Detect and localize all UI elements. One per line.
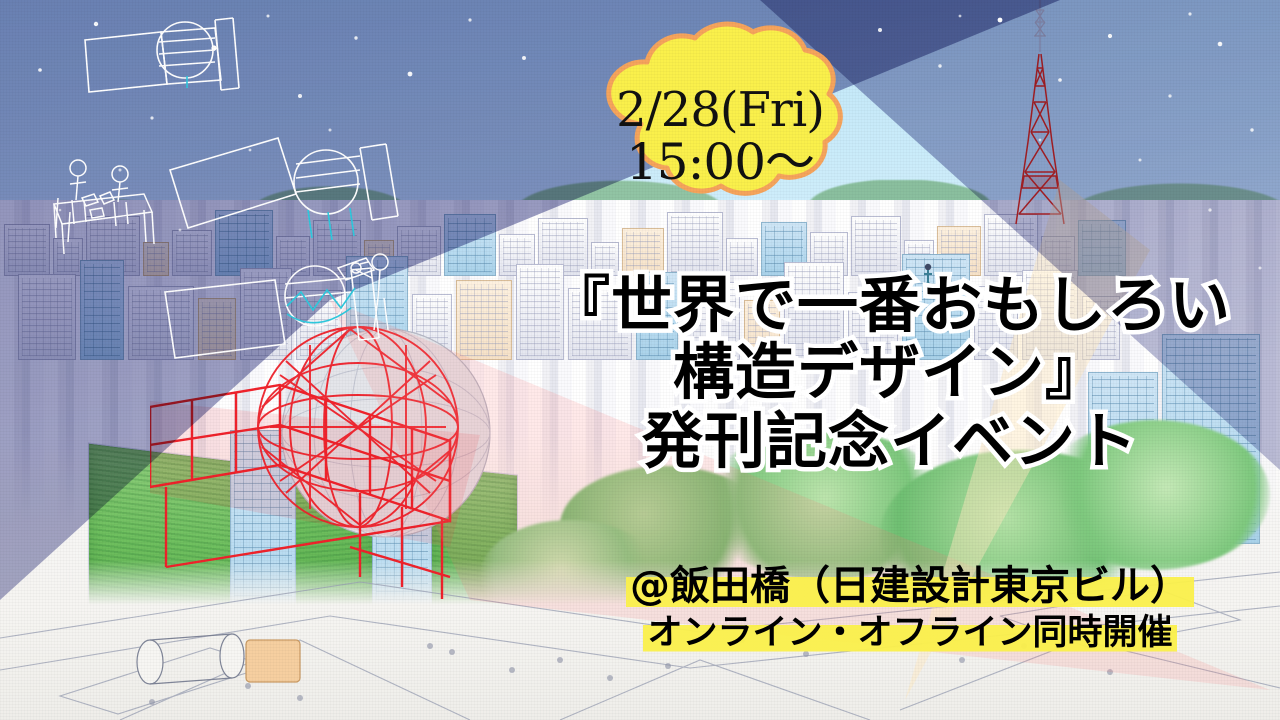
format-text: オンライン・オフライン同時開催 (643, 613, 1176, 653)
bubble-text-group: 2/28(Fri) 15:00〜 (575, 18, 865, 256)
event-title: 『世界で一番おもしろい 構造デザイン』 発刊記念イベント (540, 272, 1240, 475)
structural-sketch-mid (160, 128, 410, 268)
event-date: 2/28(Fri) (616, 86, 824, 135)
structural-sketch-top (75, 14, 305, 114)
person-with-tablet-sketch (336, 250, 406, 342)
title-line-2: 構造デザイン』 (540, 339, 1240, 406)
event-time: 15:00〜 (626, 137, 814, 188)
venue-line: @飯田橋（日建設計東京ビル） (626, 562, 1194, 611)
event-details: @飯田橋（日建設計東京ビル） オンライン・オフライン同時開催 (560, 562, 1260, 654)
date-time-speech-bubble: 2/28(Fri) 15:00〜 (575, 18, 865, 256)
venue-text: @飯田橋（日建設計東京ビル） (626, 563, 1194, 609)
event-poster: 2/28(Fri) 15:00〜 『世界で一番おもしろい 構造デザイン』 発刊記… (0, 0, 1280, 720)
format-line: オンライン・オフライン同時開催 (643, 612, 1176, 655)
title-line-3: 発刊記念イベント (540, 408, 1240, 475)
title-line-1: 『世界で一番おもしろい (540, 272, 1240, 339)
drafting-table-people-sketch (48, 146, 158, 262)
